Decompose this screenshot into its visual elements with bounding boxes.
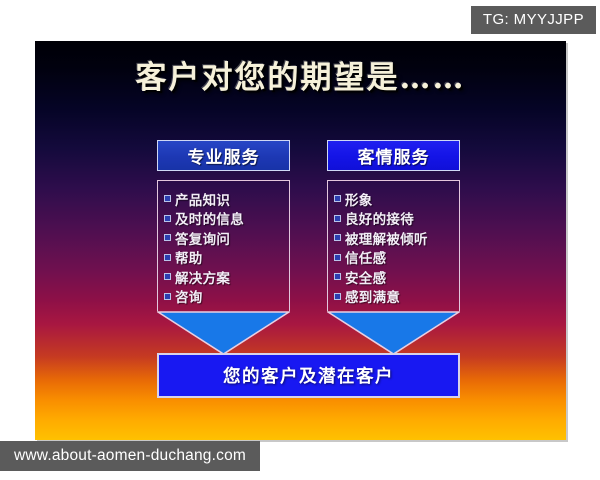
- list-item-label: 信任感: [345, 247, 386, 267]
- list-item-label: 答复询问: [175, 228, 230, 248]
- list-item-label: 咨询: [175, 286, 203, 306]
- list-item: 及时的信息: [164, 209, 289, 229]
- list-container: 产品知识 及时的信息 答复询问 帮助 解决方案 咨询: [157, 180, 290, 311]
- list-item: 答复询问: [164, 228, 289, 248]
- list-item: 信任感: [334, 248, 459, 268]
- pentagon-block-customer-relations-service: 形象 良好的接待 被理解被倾听 信任感 安全感 感到满意: [327, 180, 460, 355]
- column-header-label: 专业服务: [188, 143, 260, 168]
- list-item: 帮助: [164, 248, 289, 268]
- list-item: 被理解被倾听: [334, 228, 459, 248]
- square-bullet-icon: [334, 273, 341, 280]
- list-item: 解决方案: [164, 267, 289, 287]
- list-item-label: 良好的接待: [345, 208, 414, 228]
- list-container: 形象 良好的接待 被理解被倾听 信任感 安全感 感到满意: [327, 180, 460, 311]
- list-item-label: 形象: [345, 189, 373, 209]
- square-bullet-icon: [334, 293, 341, 300]
- presentation-slide: 客户对您的期望是…… 专业服务 客情服务 产品知识 及时的信息 答复询问 帮助: [35, 41, 566, 440]
- list-item: 形象: [334, 189, 459, 209]
- list-item-label: 被理解被倾听: [345, 228, 428, 248]
- square-bullet-icon: [164, 293, 171, 300]
- list-item-label: 产品知识: [175, 189, 230, 209]
- square-bullet-icon: [164, 254, 171, 261]
- down-arrow-icon: [157, 311, 290, 355]
- square-bullet-icon: [334, 234, 341, 241]
- column-header-professional-service: 专业服务: [157, 140, 290, 171]
- list-item-label: 感到满意: [345, 286, 400, 306]
- square-bullet-icon: [334, 254, 341, 261]
- website-watermark: www.about-aomen-duchang.com: [0, 441, 260, 472]
- square-bullet-icon: [164, 195, 171, 202]
- website-watermark-text: www.about-aomen-duchang.com: [14, 447, 246, 464]
- square-bullet-icon: [164, 273, 171, 280]
- slide-title: 客户对您的期望是……: [35, 63, 566, 94]
- square-bullet-icon: [164, 234, 171, 241]
- list-item-label: 解决方案: [175, 267, 230, 287]
- list-item: 安全感: [334, 267, 459, 287]
- pentagon-block-professional-service: 产品知识 及时的信息 答复询问 帮助 解决方案 咨询: [157, 180, 290, 355]
- list-item: 产品知识: [164, 189, 289, 209]
- list-item-label: 及时的信息: [175, 208, 244, 228]
- list-item-label: 帮助: [175, 247, 203, 267]
- list-item: 良好的接待: [334, 209, 459, 229]
- bottom-summary-label: 您的客户及潜在客户: [223, 363, 394, 388]
- list-item: 感到满意: [334, 287, 459, 307]
- bottom-summary-box: 您的客户及潜在客户: [157, 353, 460, 398]
- telegram-handle-badge: TG: MYYJJPP: [471, 6, 596, 34]
- column-header-customer-relations-service: 客情服务: [327, 140, 460, 171]
- down-arrow-icon: [327, 311, 460, 355]
- column-header-label: 客情服务: [358, 143, 430, 168]
- square-bullet-icon: [334, 195, 341, 202]
- list-item: 咨询: [164, 287, 289, 307]
- list-item-label: 安全感: [345, 267, 386, 287]
- square-bullet-icon: [164, 215, 171, 222]
- square-bullet-icon: [334, 215, 341, 222]
- telegram-handle-text: TG: MYYJJPP: [483, 11, 584, 28]
